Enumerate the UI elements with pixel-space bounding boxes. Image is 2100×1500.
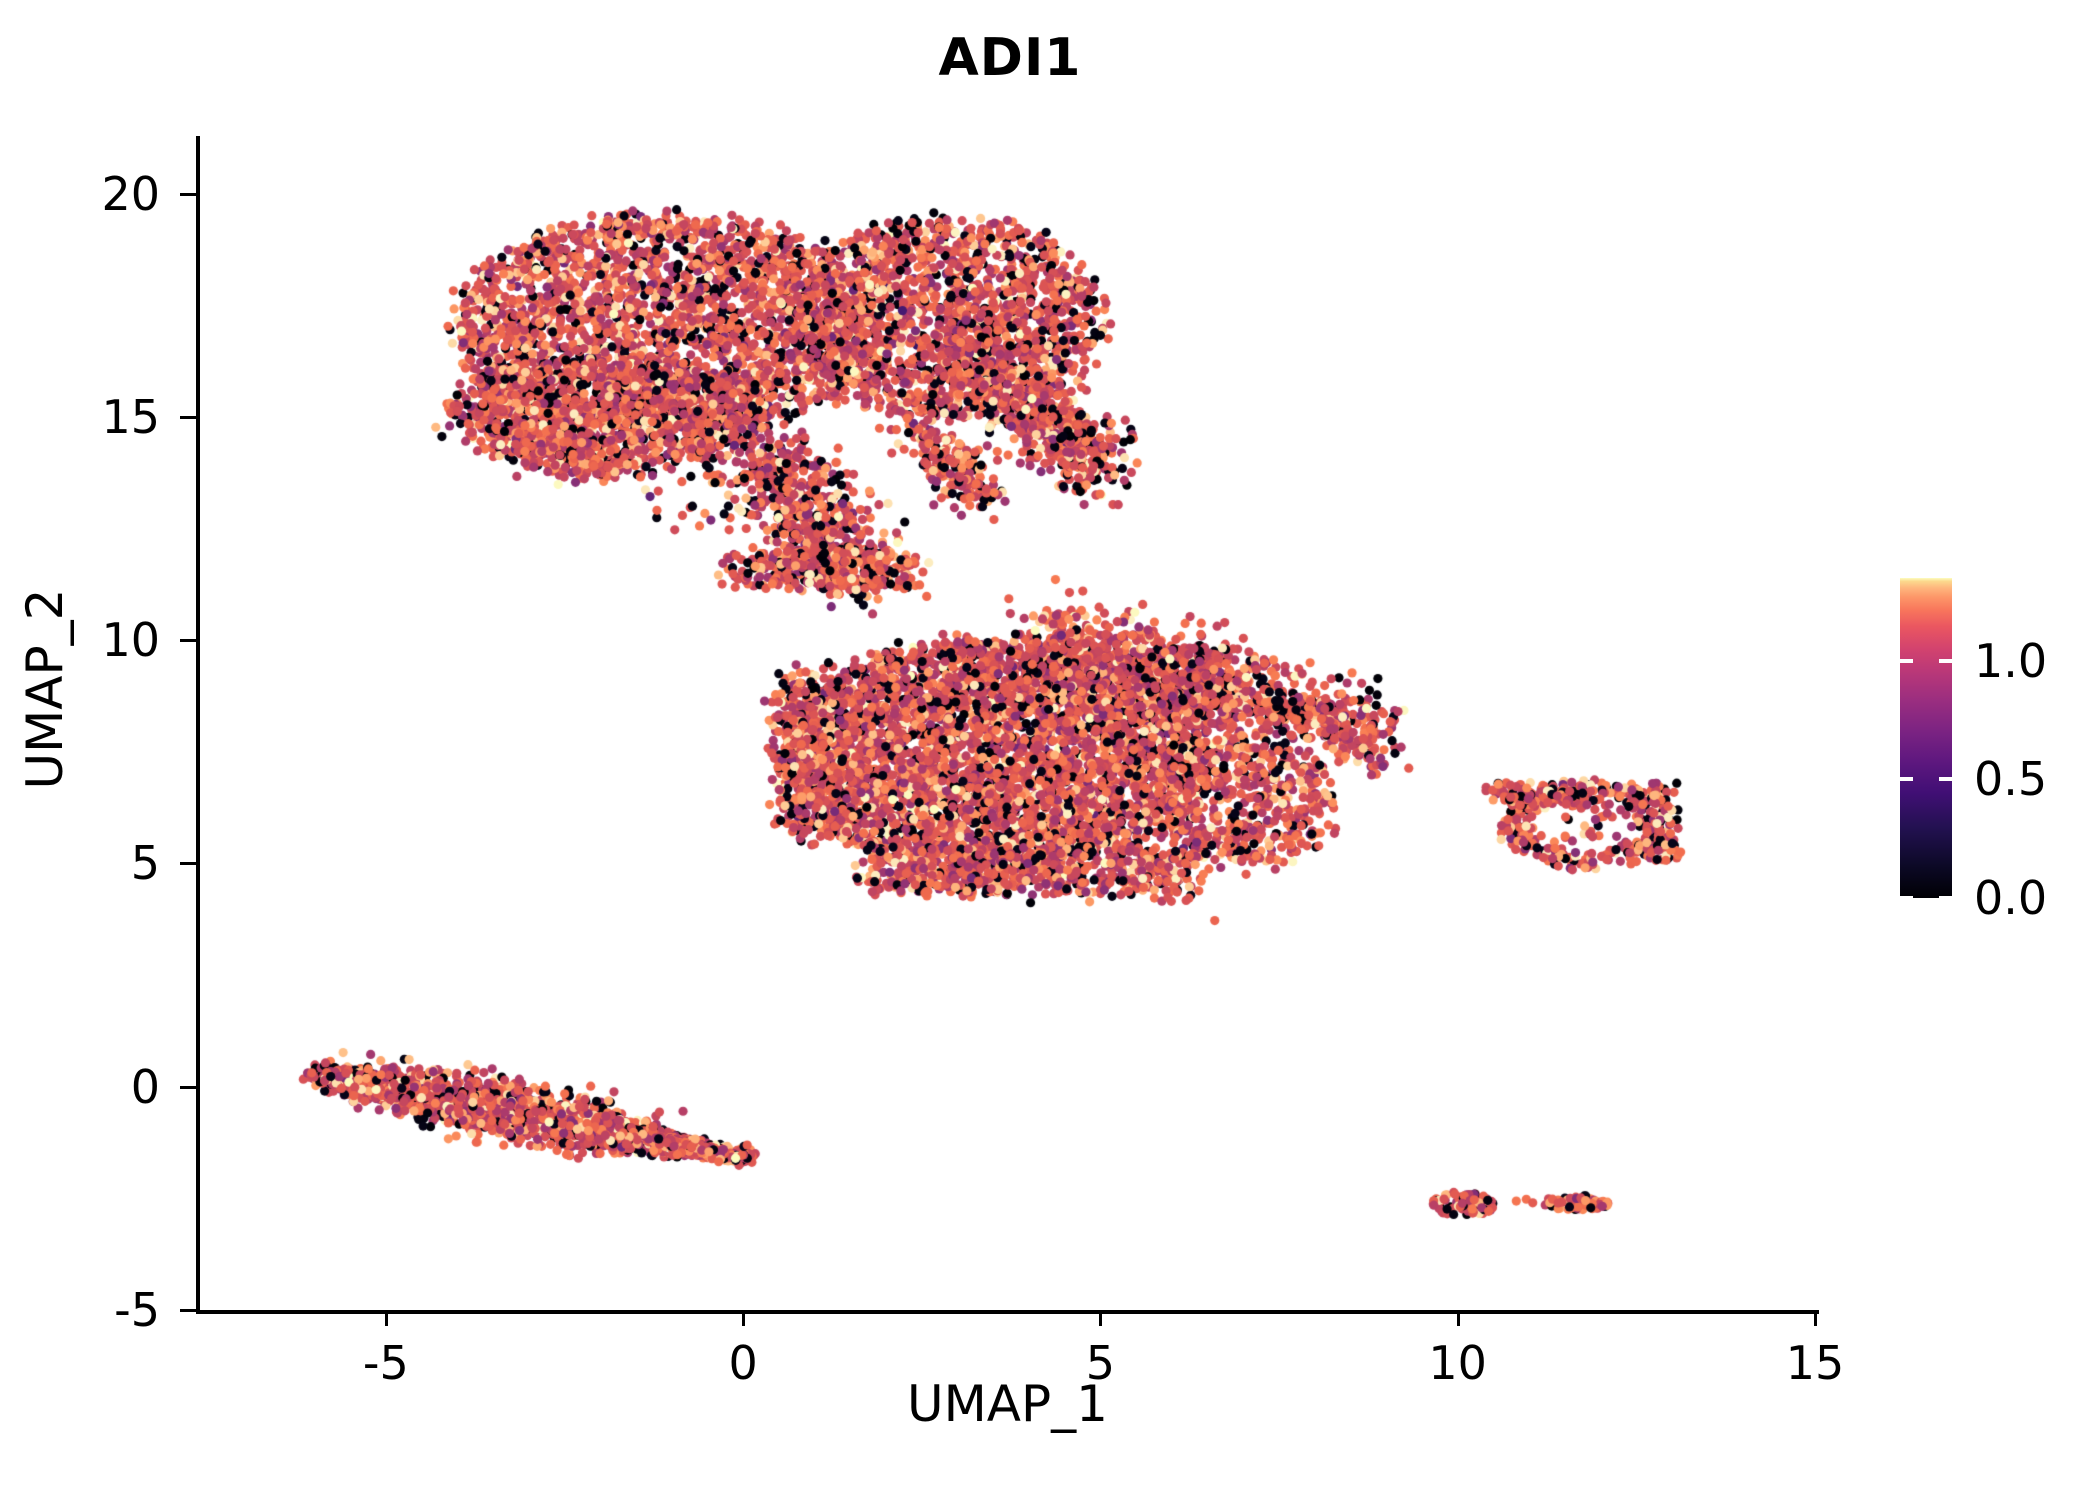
x-axis-label: UMAP_1 xyxy=(200,1375,1815,1433)
colorbar-tick-mark xyxy=(1939,659,1952,663)
colorbar-tick-mark xyxy=(1900,896,1913,900)
y-tick-label: 10 xyxy=(101,613,160,667)
y-tick-mark xyxy=(180,193,196,196)
colorbar-tick-mark xyxy=(1939,777,1952,781)
y-tick-mark xyxy=(180,1309,196,1312)
x-tick-mark xyxy=(385,1310,388,1326)
x-tick-mark xyxy=(1457,1310,1460,1326)
x-tick-mark xyxy=(1099,1310,1102,1326)
figure-canvas: ADI1 -5051015 20151050-5 UMAP_1 UMAP_2 1… xyxy=(0,0,2100,1500)
colorbar-tick-mark xyxy=(1939,896,1952,900)
x-tick-mark xyxy=(1814,1310,1817,1326)
colorbar-tick-label: 1.0 xyxy=(1974,634,2047,688)
plot-axes: -5051015 20151050-5 xyxy=(200,140,1815,1310)
y-tick-label: 0 xyxy=(131,1060,160,1114)
x-axis-spine xyxy=(196,1310,1819,1314)
y-tick-mark xyxy=(180,639,196,642)
y-tick-label: -5 xyxy=(114,1283,160,1337)
colorbar-gradient xyxy=(1900,578,1952,898)
y-tick-label: 5 xyxy=(131,836,160,890)
colorbar-tick-label: 0.0 xyxy=(1974,871,2047,925)
y-tick-mark xyxy=(180,862,196,865)
colorbar-tick-label: 0.5 xyxy=(1974,752,2047,806)
y-tick-label: 15 xyxy=(101,390,160,444)
y-tick-label: 20 xyxy=(101,167,160,221)
y-tick-mark xyxy=(180,1086,196,1089)
scatter-plot-area xyxy=(200,140,1815,1310)
page-title: ADI1 xyxy=(0,28,2020,88)
x-tick-mark xyxy=(742,1310,745,1326)
y-tick-mark xyxy=(180,416,196,419)
colorbar-tick-mark xyxy=(1900,659,1913,663)
colorbar-tick-mark xyxy=(1900,777,1913,781)
y-axis-label: UMAP_2 xyxy=(16,379,74,999)
scatter-points-canvas xyxy=(200,140,1815,1310)
